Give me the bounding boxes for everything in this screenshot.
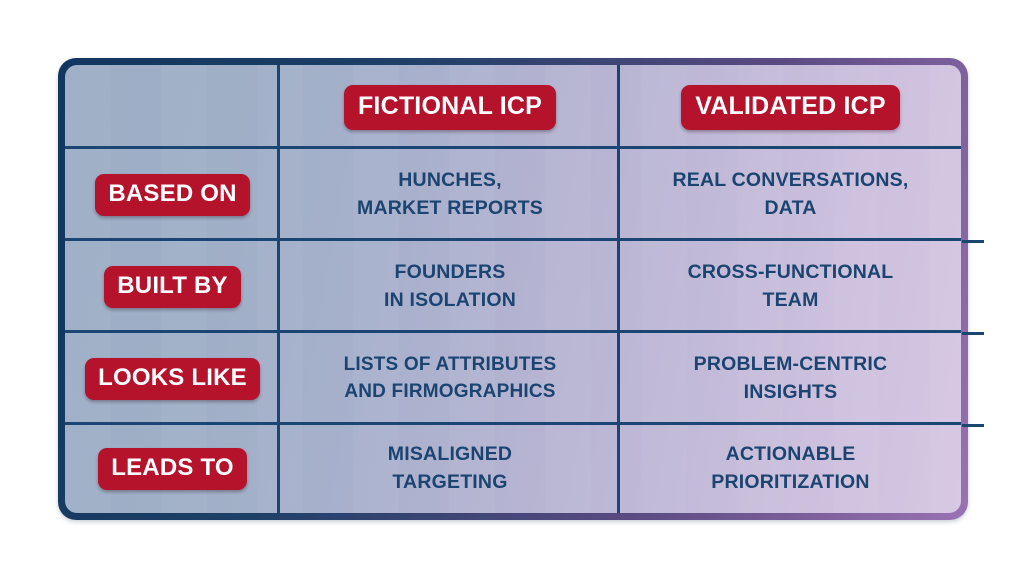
row-divider-overhang bbox=[962, 424, 984, 427]
cell-text: LISTS OF ATTRIBUTES AND FIRMOGRAPHICS bbox=[344, 352, 557, 406]
row-label-badge-looks-like: LOOKS LIKE bbox=[85, 358, 260, 400]
cell-text: ACTIONABLE PRIORITIZATION bbox=[711, 441, 869, 496]
row-label-badge-leads-to: LEADS TO bbox=[98, 448, 247, 490]
comparison-table-grid: FICTIONAL ICP VALIDATED ICP BASED ON HUN… bbox=[65, 65, 961, 513]
cell-built-by-fictional: FOUNDERS IN ISOLATION bbox=[280, 241, 620, 333]
row-label-cell-based-on: BASED ON bbox=[65, 149, 280, 241]
row-label-badge-built-by: BUILT BY bbox=[104, 266, 240, 308]
header-cell-corner bbox=[65, 65, 280, 149]
cell-looks-like-validated: PROBLEM-CENTRIC INSIGHTS bbox=[620, 333, 961, 425]
header-cell-fictional: FICTIONAL ICP bbox=[280, 65, 620, 149]
cell-text: CROSS-FUNCTIONAL TEAM bbox=[688, 259, 894, 314]
cell-text: PROBLEM-CENTRIC INSIGHTS bbox=[694, 351, 888, 406]
comparison-table-frame: FICTIONAL ICP VALIDATED ICP BASED ON HUN… bbox=[58, 58, 968, 520]
header-cell-validated: VALIDATED ICP bbox=[620, 65, 961, 149]
row-label-cell-built-by: BUILT BY bbox=[65, 241, 280, 333]
cell-leads-to-fictional: MISALIGNED TARGETING bbox=[280, 425, 620, 513]
comparison-table-surface: FICTIONAL ICP VALIDATED ICP BASED ON HUN… bbox=[65, 65, 961, 513]
cell-leads-to-validated: ACTIONABLE PRIORITIZATION bbox=[620, 425, 961, 513]
row-divider-overhang bbox=[962, 332, 984, 335]
cell-text: MISALIGNED TARGETING bbox=[388, 441, 512, 496]
row-label-cell-leads-to: LEADS TO bbox=[65, 425, 280, 513]
cell-based-on-fictional: HUNCHES, MARKET REPORTS bbox=[280, 149, 620, 241]
row-label-badge-based-on: BASED ON bbox=[95, 174, 249, 216]
cell-text: HUNCHES, MARKET REPORTS bbox=[357, 167, 543, 222]
cell-looks-like-fictional: LISTS OF ATTRIBUTES AND FIRMOGRAPHICS bbox=[280, 333, 620, 425]
cell-built-by-validated: CROSS-FUNCTIONAL TEAM bbox=[620, 241, 961, 333]
cell-text: REAL CONVERSATIONS, DATA bbox=[672, 167, 908, 222]
diagram-canvas: FICTIONAL ICP VALIDATED ICP BASED ON HUN… bbox=[0, 0, 1024, 576]
header-badge-validated-icp: VALIDATED ICP bbox=[681, 85, 900, 130]
cell-based-on-validated: REAL CONVERSATIONS, DATA bbox=[620, 149, 961, 241]
header-badge-fictional-icp: FICTIONAL ICP bbox=[344, 85, 556, 130]
cell-text: FOUNDERS IN ISOLATION bbox=[384, 259, 516, 314]
row-divider-overhang bbox=[962, 240, 984, 243]
row-label-cell-looks-like: LOOKS LIKE bbox=[65, 333, 280, 425]
